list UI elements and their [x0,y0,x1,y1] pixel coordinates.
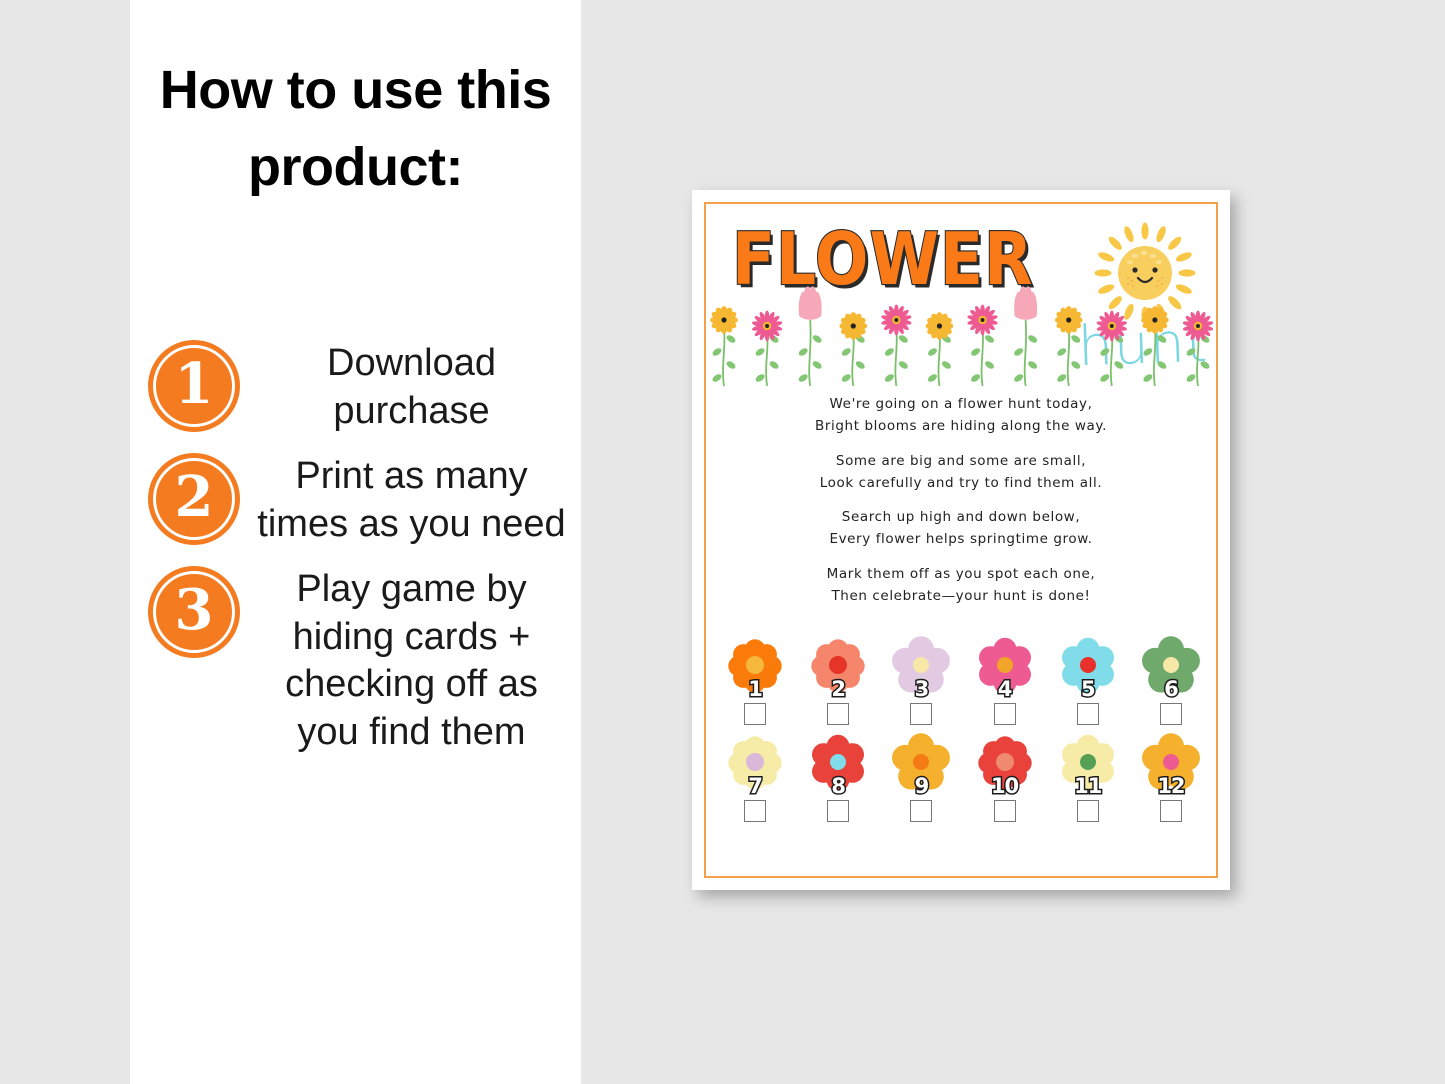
flower-number-label: 11 [1051,774,1125,798]
step-text-2: Print as many times as you need [254,453,581,548]
step-number-1: 1 [175,356,214,412]
step-number-badge-2: 2 [148,453,240,545]
checkbox-2[interactable] [827,703,849,725]
step-number-badge-1: 1 [148,340,240,432]
poem-line: Mark them off as you spot each one, [706,564,1216,586]
checkbox-8[interactable] [827,800,849,822]
poem-line: Look carefully and try to find them all. [706,473,1216,495]
flower-icon: 2 [801,636,875,698]
checkbox-6[interactable] [1160,703,1182,725]
checkbox-4[interactable] [994,703,1016,725]
flower-number-label: 6 [1134,677,1208,701]
poster-inner-border: FLOWER [704,202,1218,878]
flower-checklist-item-2: 2 [799,636,877,725]
flower-icon: 11 [1051,733,1125,795]
flower-checklist-item-9: 9 [882,733,960,822]
flower-number-label: 8 [801,774,875,798]
steps-list: 1 Download purchase 2 Print as many time… [130,340,581,774]
flower-number-label: 10 [968,774,1042,798]
flower-icon: 8 [801,733,875,795]
flower-icon: 5 [1051,636,1125,698]
flower-icon: 4 [968,636,1042,698]
flower-number-label: 7 [718,774,792,798]
flower-number-label: 4 [968,677,1042,701]
step-item-3: 3 Play game by hiding cards + checking o… [130,566,581,756]
flower-checklist-item-4: 4 [966,636,1044,725]
checkbox-12[interactable] [1160,800,1182,822]
poem-line: We're going on a flower hunt today, [706,394,1216,416]
checkbox-7[interactable] [744,800,766,822]
step-number-3: 3 [175,582,214,638]
flower-checklist-item-12: 12 [1132,733,1210,822]
checkbox-9[interactable] [910,800,932,822]
poem-stanza-1: We're going on a flower hunt today,Brigh… [706,394,1216,438]
flower-checklist-item-5: 5 [1049,636,1127,725]
checkbox-3[interactable] [910,703,932,725]
step-text-3: Play game by hiding cards + checking off… [254,566,581,756]
flower-checklist-item-3: 3 [882,636,960,725]
poem-line: Then celebrate—your hunt is done! [706,586,1216,608]
flower-checklist-row: 123456 [716,636,1210,725]
poem-line: Bright blooms are hiding along the way. [706,416,1216,438]
poem-line: Every flower helps springtime grow. [706,529,1216,551]
flower-icon: 6 [1134,636,1208,698]
poem-line: Search up high and down below, [706,507,1216,529]
poem-stanza-2: Some are big and some are small,Look car… [706,451,1216,495]
step-item-1: 1 Download purchase [130,340,581,435]
flower-number-label: 1 [718,677,792,701]
printable-poster-preview: FLOWER [692,190,1230,890]
flower-checklist-row: 789101112 [716,733,1210,822]
flower-icon: 12 [1134,733,1208,795]
flower-checklist-item-1: 1 [716,636,794,725]
flower-icon: 7 [718,733,792,795]
flower-checklist-item-10: 10 [966,733,1044,822]
flower-number-label: 9 [884,774,958,798]
flower-icon: 3 [884,636,958,698]
flower-border-strip-icon [706,286,1216,386]
step-number-2: 2 [175,469,214,525]
checkbox-1[interactable] [744,703,766,725]
checkbox-5[interactable] [1077,703,1099,725]
flower-checklist-item-6: 6 [1132,636,1210,725]
poem-stanza-3: Search up high and down below,Every flow… [706,507,1216,551]
poem-line: Some are big and some are small, [706,451,1216,473]
checkbox-10[interactable] [994,800,1016,822]
flower-number-label: 3 [884,677,958,701]
flower-checklist-grid: 123456789101112 [716,636,1210,830]
step-item-2: 2 Print as many times as you need [130,453,581,548]
flower-number-label: 12 [1134,774,1208,798]
checkbox-11[interactable] [1077,800,1099,822]
page-title: How to use this product: [148,52,563,205]
flower-number-label: 5 [1051,677,1125,701]
flower-icon: 9 [884,733,958,795]
how-to-use-panel: How to use this product: 1 Download purc… [130,0,581,1084]
flower-number-label: 2 [801,677,875,701]
step-text-1: Download purchase [254,340,581,435]
poem-stanza-4: Mark them off as you spot each one,Then … [706,564,1216,608]
flower-checklist-item-7: 7 [716,733,794,822]
flower-icon: 10 [968,733,1042,795]
poem-text: We're going on a flower hunt today,Brigh… [706,394,1216,621]
flower-checklist-item-8: 8 [799,733,877,822]
flower-icon: 1 [718,636,792,698]
flower-checklist-item-11: 11 [1049,733,1127,822]
step-number-badge-3: 3 [148,566,240,658]
